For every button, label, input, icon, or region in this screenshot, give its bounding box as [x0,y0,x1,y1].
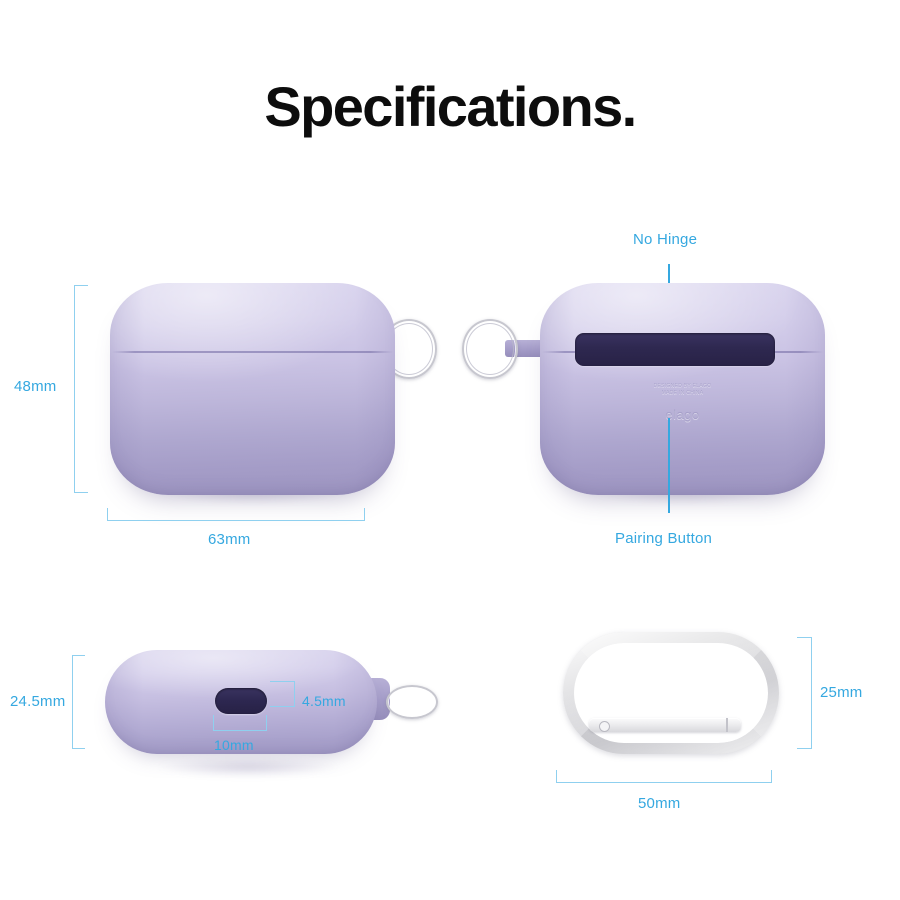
page-title: Specifications. [0,74,900,139]
carabiner-height-bracket [797,637,812,749]
front-case-body [110,283,395,495]
front-width-bracket [107,508,365,521]
front-case-seam [112,351,393,353]
bottom-height-label: 24.5mm [10,693,65,710]
elago-logo-emboss: elago [540,407,825,422]
front-height-label: 48mm [14,378,56,395]
bottom-case-shadow [118,752,378,782]
back-case-body: DESIGNED BY ELAGO MADE IN CHINA elago [540,283,825,495]
fine-print-line-1: DESIGNED BY ELAGO [540,383,825,390]
carabiner-gate-pin [599,721,610,732]
carabiner-width-label: 50mm [638,795,680,812]
carabiner-ring-outer [563,632,779,754]
carabiner-gate-notch [726,718,728,732]
pairing-button-leader-line [668,418,670,513]
charging-port [215,688,267,714]
front-height-bracket [74,285,88,493]
back-keyring-inner [466,323,514,375]
pairing-button-label: Pairing Button [615,530,712,547]
fine-print-line-2: MADE IN CHINA [540,390,825,397]
back-keyring-ring [462,319,518,379]
port-height-label: 4.5mm [302,693,346,709]
carabiner-width-bracket [556,770,772,783]
carabiner-body [563,632,779,754]
carabiner-gate-bar [589,718,741,732]
hinge-slot [575,333,775,366]
carabiner-height-label: 25mm [820,684,862,701]
bottom-height-bracket [72,655,85,749]
port-height-bracket [270,681,295,707]
port-width-label: 10mm [214,737,254,753]
port-width-bracket [213,715,267,731]
front-width-label: 63mm [208,531,250,548]
bottom-keyring-ring [386,685,438,719]
no-hinge-label: No Hinge [633,231,697,248]
